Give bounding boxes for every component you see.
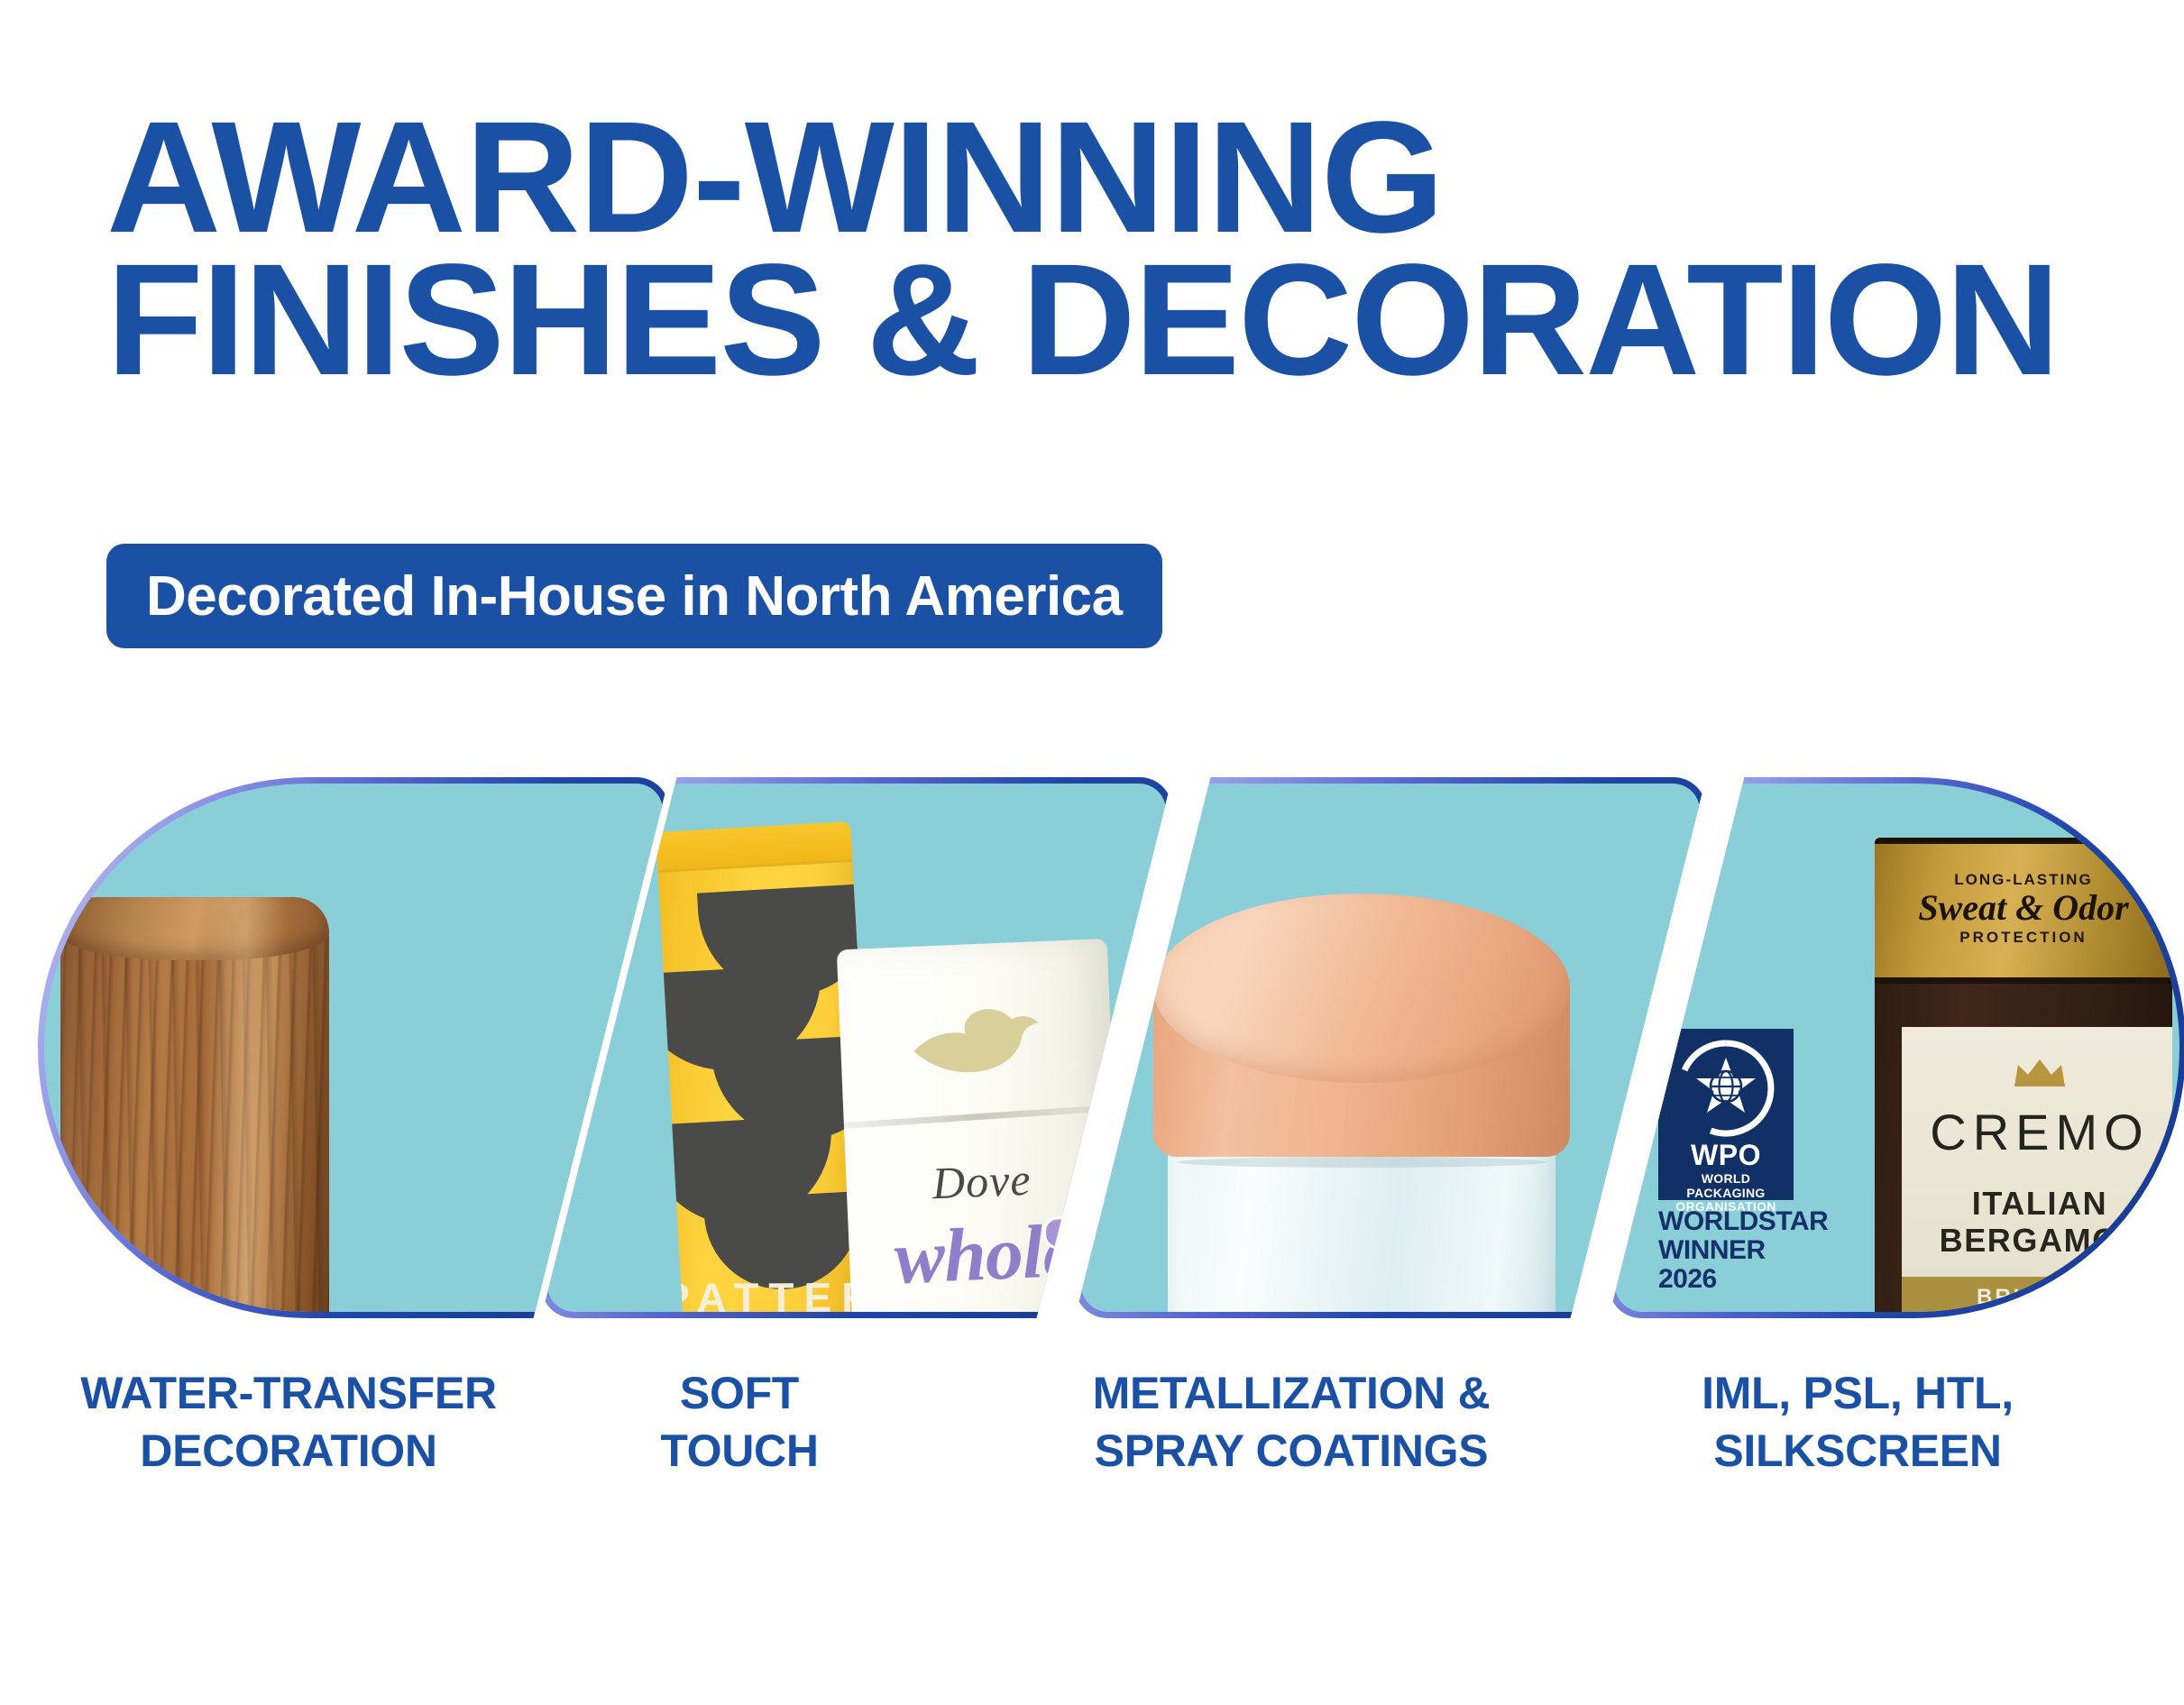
card-image-area: [1081, 784, 1700, 1312]
dove-bird-icon: [906, 1001, 1044, 1082]
jar-cap-top: [1153, 894, 1570, 1083]
cremo-tin-image: LONG-LASTING Sweat & Odor PROTECTION CRE…: [1875, 838, 2172, 1312]
card-image-area: WPO WORLD PACKAGING ORGANISATION WORLDST…: [1615, 784, 2179, 1312]
dove-deodorant-image: Dove whole ALU: [837, 939, 1124, 1312]
subtitle-badge: Decorated In-House in North America: [106, 544, 1162, 648]
cremo-cap-line-1: LONG-LASTING: [1875, 871, 2172, 889]
worldstar-winner-label: WORLDSTAR WINNER 2026: [1658, 1207, 1812, 1293]
jar-glass-ring: [1177, 1157, 1546, 1168]
page-title: AWARD-WINNING FINISHES & DECORATION: [106, 106, 2126, 392]
dove-cap-seam: [837, 1104, 1124, 1130]
wpo-abbreviation: WPO: [1667, 1141, 1785, 1169]
tube-brand-text: PATTERN: [662, 1272, 878, 1312]
cremo-variant-bar: BRIGHT &: [1902, 1277, 2172, 1312]
cremo-cap-line-2: Sweat & Odor: [1875, 889, 2172, 927]
card-caption-iml-psl-htl: IML, PSL, HTL, SILKSCREEN: [1614, 1364, 2101, 1480]
post-top-face: [60, 897, 329, 960]
cremo-brand-text: CREMO: [1902, 1103, 2172, 1161]
decoration-card-metallization: [1075, 777, 1706, 1318]
decoration-card-strip: PATTERN Dove whole ALU: [0, 777, 2184, 1318]
page-title-line-2: FINISHES & DECORATION: [106, 249, 2126, 391]
card-caption-soft-touch: SOFT TOUCH: [559, 1364, 920, 1480]
rose-gold-jar-image: [1146, 894, 1577, 1312]
wood-grain-post-image: [60, 897, 329, 1312]
wpo-globe-star-icon: [1675, 1038, 1776, 1139]
card-caption-water-transfer: WATER-TRANSFER DECORATION: [36, 1364, 541, 1480]
cremo-front-label: CREMO ITALIAN BERGAMOT BRIGHT &: [1902, 1027, 2172, 1312]
wpo-logo: WPO WORLD PACKAGING ORGANISATION: [1658, 1029, 1794, 1200]
dove-brand-text: Dove: [846, 1150, 1118, 1214]
tube-crimp: [656, 821, 852, 873]
page-title-line-1: AWARD-WINNING: [106, 106, 2126, 249]
dove-product-text: whole: [848, 1205, 1122, 1304]
cremo-cap-line-3: PROTECTION: [1875, 929, 2172, 947]
decoration-card-iml-psl-htl: WPO WORLD PACKAGING ORGANISATION WORLDST…: [1609, 777, 2184, 1318]
worldstar-award-block: WPO WORLD PACKAGING ORGANISATION WORLDST…: [1658, 1029, 1812, 1293]
crown-icon: [2013, 1058, 2067, 1088]
subtitle-label: Decorated In-House in North America: [146, 564, 1123, 628]
card-caption-metallization: METALLIZATION & SPRAY COATINGS: [1030, 1364, 1553, 1480]
cremo-cap: LONG-LASTING Sweat & Odor PROTECTION: [1875, 838, 2172, 984]
post-sheen: [206, 897, 286, 1312]
cremo-variant-text: ITALIAN BERGAMOT: [1902, 1185, 2172, 1259]
